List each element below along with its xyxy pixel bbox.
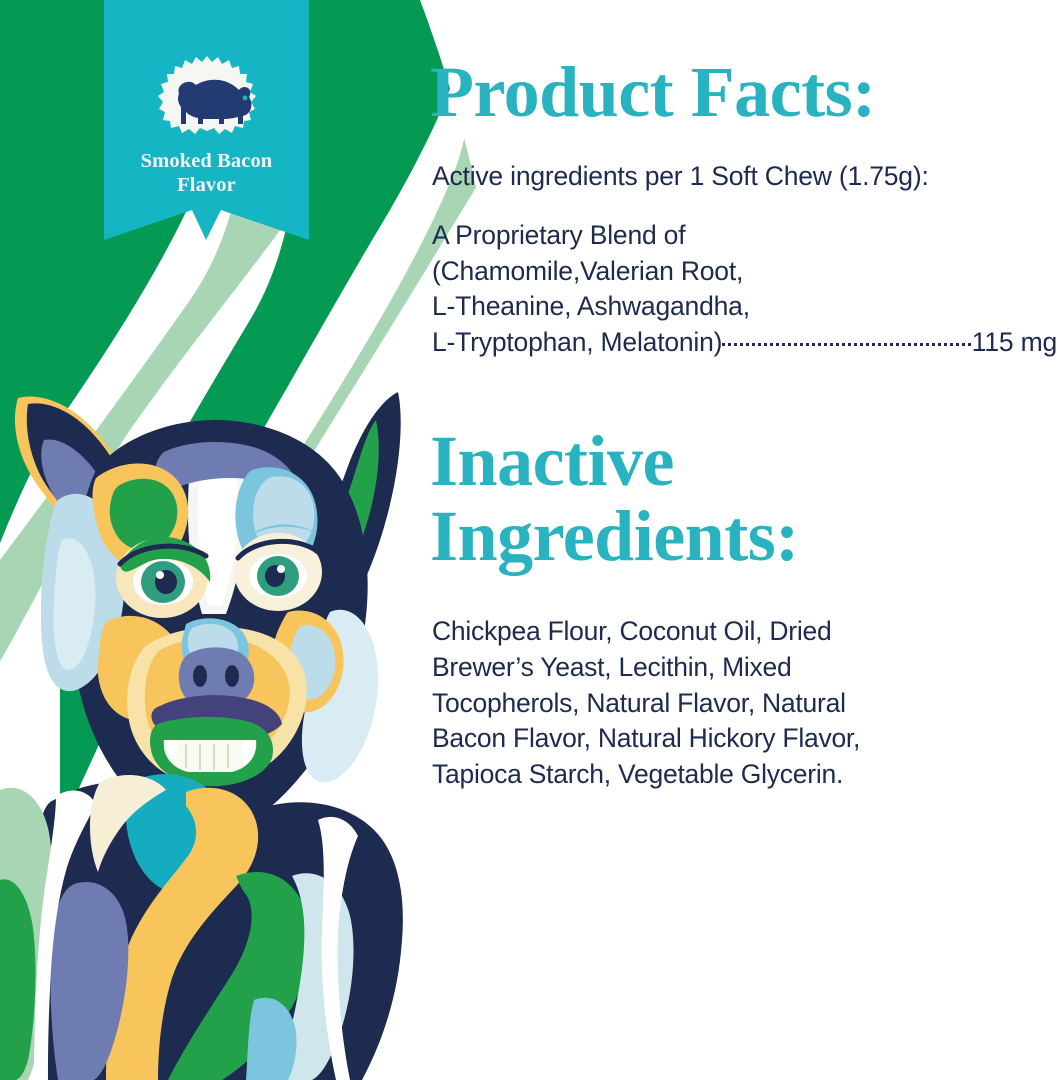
inactive-line-4: Bacon Flavor, Natural Hickory Flavor,	[432, 721, 1057, 757]
inactive-heading-line1: Inactive	[430, 424, 799, 499]
inactive-heading-line2: Ingredients:	[430, 499, 799, 574]
inactive-line-5: Tapioca Starch, Vegetable Glycerin.	[432, 757, 1057, 793]
blend-line-4-with-amount: L-Tryptophan, Melatonin) 115 mg	[432, 325, 1057, 361]
product-facts-heading: Product Facts:	[430, 56, 876, 128]
dog-head-illustration	[0, 392, 403, 1080]
badge-label-line1: Smoked Bacon	[112, 150, 302, 174]
badge-label: Smoked Bacon Flavor	[112, 150, 302, 198]
badge-label-line2: Flavor	[112, 174, 302, 198]
blend-line-2: (Chamomile,Valerian Root,	[432, 254, 1057, 290]
inactive-ingredients-heading: Inactive Ingredients:	[430, 424, 799, 574]
blend-amount: 115 mg	[972, 325, 1057, 361]
blend-line-3: L-Theanine, Ashwagandha,	[432, 289, 1057, 325]
product-facts-panel: Smoked Bacon Flavor Product Facts: Activ…	[0, 0, 1057, 1080]
dog-head-base	[72, 420, 368, 836]
serving-size-line: Active ingredients per 1 Soft Chew (1.75…	[432, 160, 929, 193]
inactive-line-1: Chickpea Flour, Coconut Oil, Dried	[432, 614, 1057, 650]
inactive-line-3: Tocopherols, Natural Flavor, Natural	[432, 686, 1057, 722]
inactive-ingredients-list: Chickpea Flour, Coconut Oil, Dried Brewe…	[432, 614, 1057, 793]
active-ingredients-block: A Proprietary Blend of (Chamomile,Valeri…	[432, 218, 1057, 360]
pig-emblem	[155, 52, 259, 136]
inactive-line-2: Brewer’s Yeast, Lecithin, Mixed	[432, 650, 1057, 686]
blend-line-1: A Proprietary Blend of	[432, 218, 1057, 254]
smoked-bacon-flavor-badge: Smoked Bacon Flavor	[104, 0, 309, 273]
facts-content: Product Facts: Active ingredients per 1 …	[430, 0, 1057, 1080]
blend-line-4: L-Tryptophan, Melatonin)	[432, 325, 722, 361]
dotted-leader	[722, 342, 970, 346]
